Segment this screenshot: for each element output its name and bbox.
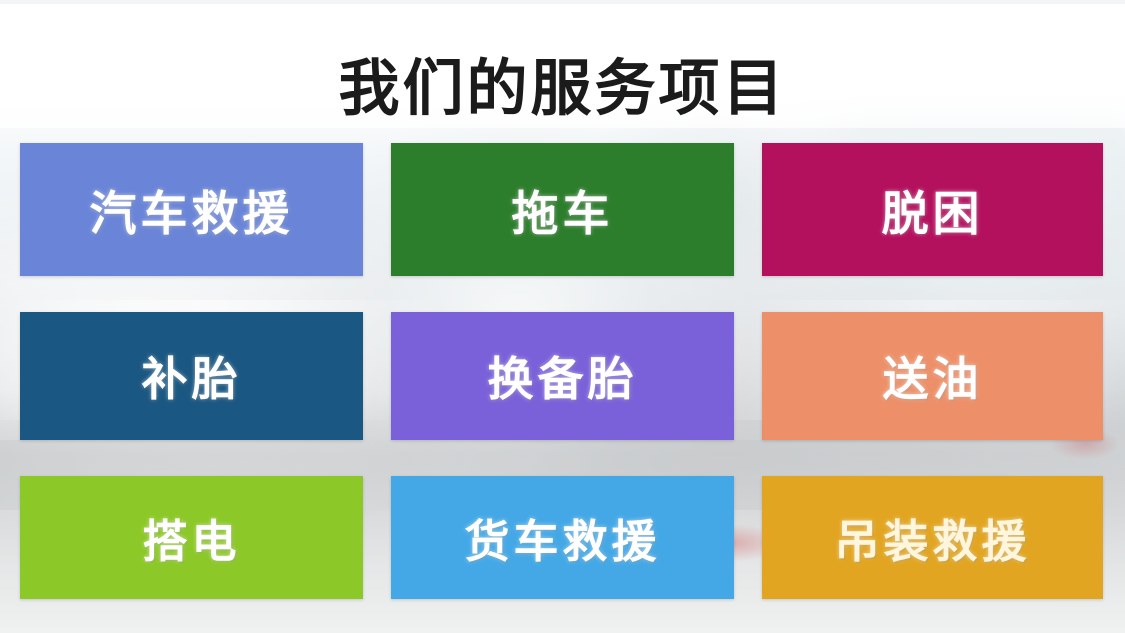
service-items-poster: 我们的服务项目 汽车救援 拖车 脱困 补胎 换备胎 送油 搭电 货车救援 吊装救… xyxy=(0,0,1125,633)
service-tile-label: 换备胎 xyxy=(488,343,638,409)
service-tile-fuel-delivery[interactable]: 送油 xyxy=(762,312,1103,440)
service-tile-label: 汽车救援 xyxy=(90,175,294,244)
service-tile-jump-start[interactable]: 搭电 xyxy=(20,476,363,599)
service-tile-label: 补胎 xyxy=(142,343,242,409)
service-tile-label: 货车救援 xyxy=(464,505,660,570)
service-tile-tire-repair[interactable]: 补胎 xyxy=(20,312,363,440)
service-tile-label: 吊装救援 xyxy=(834,505,1030,570)
service-tile-truck-rescue[interactable]: 货车救援 xyxy=(391,476,734,599)
service-tile-grid: 汽车救援 拖车 脱困 补胎 换备胎 送油 搭电 货车救援 吊装救援 xyxy=(20,143,1103,600)
top-divider xyxy=(0,0,1125,4)
page-title-container: 我们的服务项目 xyxy=(0,16,1125,162)
service-tile-label: 搭电 xyxy=(142,505,240,570)
service-tile-spare-tire-change[interactable]: 换备胎 xyxy=(391,312,734,440)
service-tile-towing[interactable]: 拖车 xyxy=(391,143,734,276)
page-title: 我们的服务项目 xyxy=(338,57,786,121)
service-tile-label: 拖车 xyxy=(512,175,614,244)
service-tile-label: 脱困 xyxy=(882,175,984,244)
service-tile-crane-lift-rescue[interactable]: 吊装救援 xyxy=(762,476,1103,599)
service-tile-label: 送油 xyxy=(883,343,983,409)
service-tile-extrication[interactable]: 脱困 xyxy=(762,143,1103,276)
service-tile-car-rescue[interactable]: 汽车救援 xyxy=(20,143,363,276)
